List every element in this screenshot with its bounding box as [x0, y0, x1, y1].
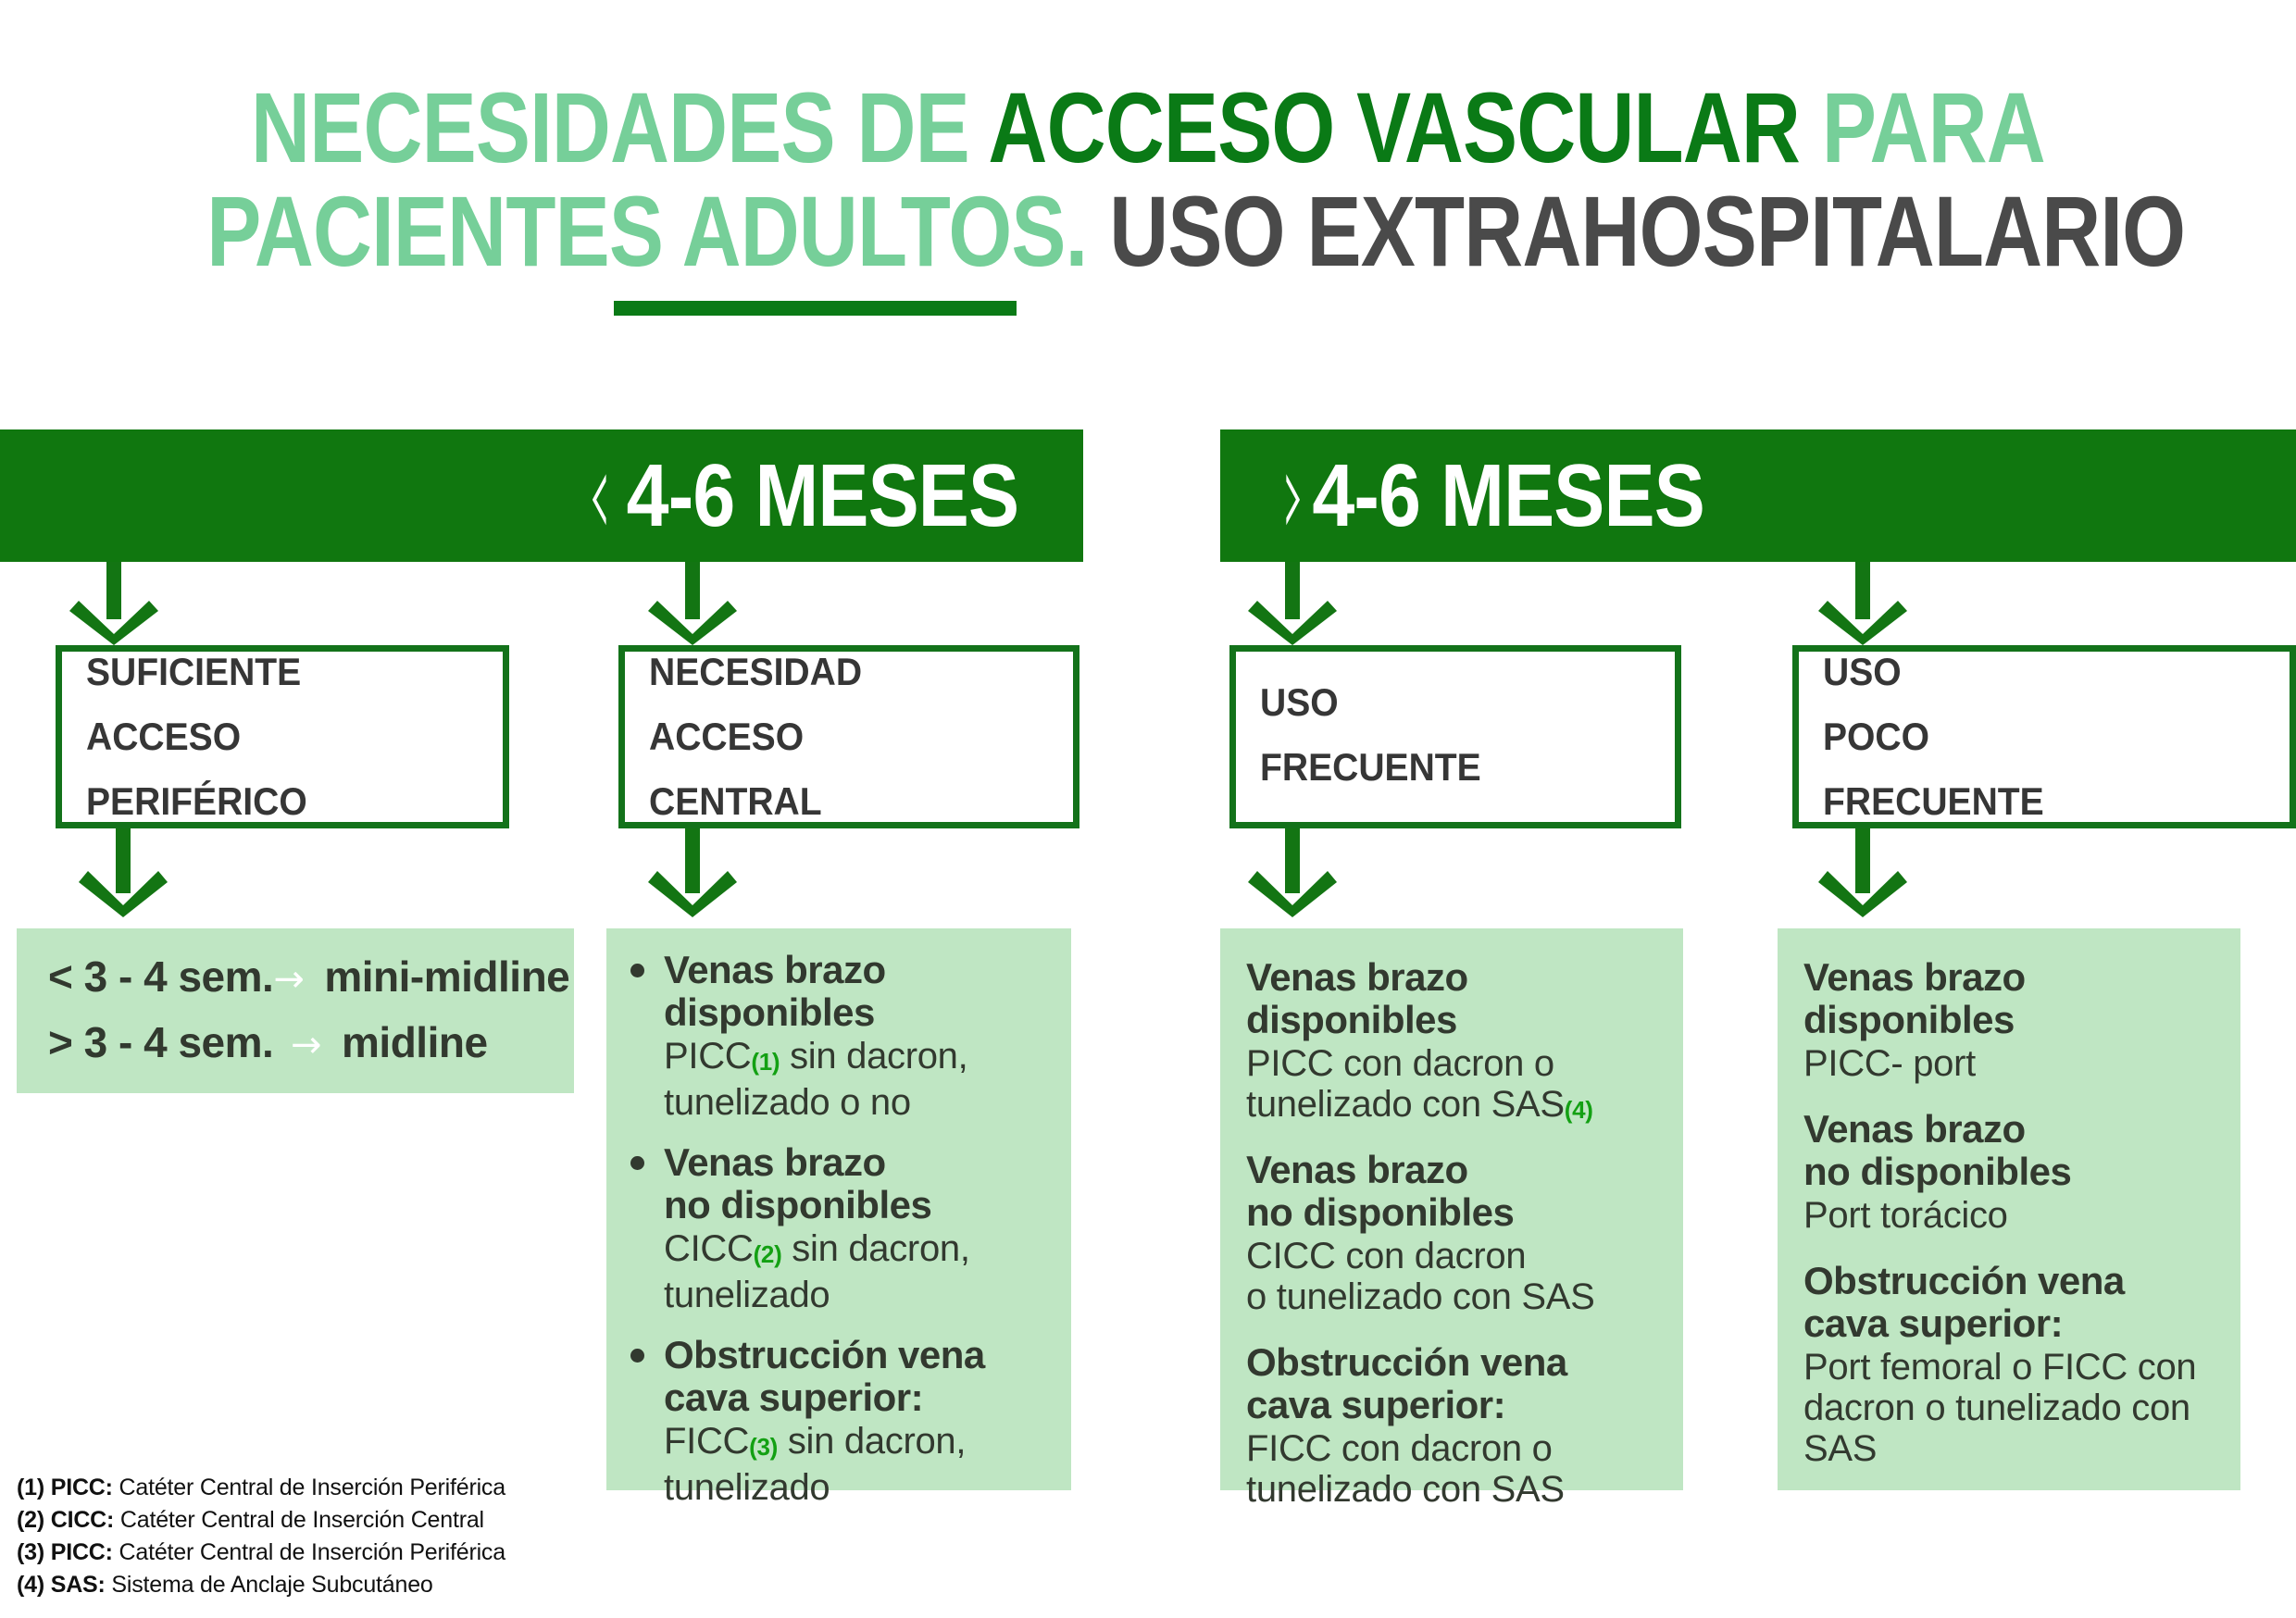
panel-item-heading: Venas brazodisponibles: [625, 949, 1053, 1034]
arrow-head-icon: [1248, 599, 1337, 645]
arrow-head-icon: [79, 869, 168, 917]
title-seg-uso-extrahospitalario: USO EXTRAHOSPITALARIO: [1109, 175, 2185, 287]
category-box-2-line-2: ACCESO: [649, 704, 1021, 769]
panel-item-detail: Port femoral o FICC condacron o tuneliza…: [1803, 1347, 2215, 1475]
detail-pre: FICC con dacron otunelizado con SAS: [1246, 1428, 1565, 1510]
right-arrow-icon: →: [291, 1014, 342, 1077]
detail-pre: CICC: [664, 1228, 754, 1269]
category-box-2-line-3: CENTRAL: [649, 769, 1021, 834]
panel-item-heading: Venas brazono disponibles: [625, 1141, 1053, 1226]
connector-arrow-2: [648, 562, 737, 645]
panel-item-heading: Obstrucción venacava superior:: [1246, 1341, 1657, 1426]
arrow-head-icon: [1248, 869, 1337, 917]
panel-item-heading: Venas brazono disponibles: [1803, 1108, 2215, 1193]
title-line-1: NECESIDADES DE ACCESO VASCULAR PARA: [206, 76, 2090, 180]
footnote-text: Catéter Central de Inserción Periférica: [113, 1475, 505, 1500]
title-seg-necesidades: NECESIDADES DE: [251, 71, 988, 183]
footnote-ref: (2): [754, 1240, 782, 1268]
category-box-1-line-3: PERIFÉRICO: [86, 769, 451, 834]
title-seg-acceso-vascular: ACCESO VASCULAR: [988, 71, 1821, 183]
category-box-suficiente-acceso-periferico[interactable]: SUFICIENTE ACCESO PERIFÉRICO: [56, 645, 509, 828]
footnote-number: (3): [17, 1539, 44, 1565]
panel-item-heading: Obstrucción venacava superior:: [625, 1334, 1053, 1419]
panel-item-heading: Obstrucción venacava superior:: [1803, 1260, 2215, 1345]
connector-arrow-6: [648, 828, 737, 917]
category-box-4-line-1: USO: [1823, 640, 2235, 704]
arrow-head-icon: [1818, 869, 1907, 917]
category-box-necesidad-acceso-central[interactable]: NECESIDAD ACCESO CENTRAL: [618, 645, 1079, 828]
content-panel-acceso-periferico: < 3 - 4 sem. → mini-midline > 3 - 4 sem.…: [17, 928, 574, 1093]
panel-item-detail: FICC con dacron otunelizado con SAS: [1246, 1428, 1657, 1515]
category-box-uso-poco-frecuente[interactable]: USO POCO FRECUENTE: [1792, 645, 2296, 828]
panel-item-detail: Port torácico: [1803, 1195, 2215, 1241]
header-left-text: 4-6 MESES: [626, 452, 1018, 541]
category-box-uso-frecuente[interactable]: USO FRECUENTE: [1229, 645, 1681, 828]
detail-pre: PICC: [664, 1036, 751, 1077]
footnote-number: (1): [17, 1475, 44, 1500]
rule-row: < 3 - 4 sem. → mini-midline: [48, 945, 543, 1011]
adultos-underline: [614, 301, 1017, 316]
detail-pre: Port torácico: [1803, 1195, 2008, 1236]
category-box-3-line-2: FRECUENTE: [1260, 735, 1623, 800]
content-panel-uso-frecuente: Venas brazodisponibles PICC con dacron o…: [1220, 928, 1683, 1490]
rule-result: midline: [342, 1011, 488, 1074]
header-label-right: ›4-6 MESES: [1279, 452, 1704, 541]
category-box-4-line-3: FRECUENTE: [1823, 769, 2235, 834]
footnote-ref: (1): [751, 1048, 780, 1076]
footnote-text: Catéter Central de Inserción Periférica: [113, 1539, 505, 1565]
detail-pre: CICC con dacrono tunelizado con SAS: [1246, 1236, 1594, 1317]
panel-item-detail: FICC(3) sin dacron,tunelizado: [625, 1421, 1053, 1508]
header-label-left: ‹4-6 MESES: [585, 452, 1018, 541]
connector-arrow-4: [1818, 562, 1907, 645]
footnote-item: (4) SAS: Sistema de Anclaje Subcutáneo: [17, 1569, 665, 1601]
connector-arrow-8: [1818, 828, 1907, 917]
header-bar-greater-than-4-6-meses: ›4-6 MESES: [1220, 429, 2296, 562]
panel-item-detail: PICC(1) sin dacron,tunelizado o no: [625, 1036, 1053, 1123]
category-box-4-line-2: POCO: [1823, 704, 2235, 769]
footnote-ref: (3): [749, 1433, 778, 1461]
rule-condition: > 3 - 4 sem.: [48, 1011, 291, 1074]
arrow-head-icon: [1818, 599, 1907, 645]
footnotes-list: (1) PICC: Catéter Central de Inserción P…: [17, 1472, 665, 1601]
footnote-item: (2) CICC: Catéter Central de Inserción C…: [17, 1504, 665, 1537]
panel-item-detail: CICC con dacrono tunelizado con SAS: [1246, 1236, 1657, 1323]
connector-arrow-5: [79, 828, 168, 917]
detail-pre: FICC: [664, 1421, 749, 1462]
detail-pre: PICC con dacron otunelizado con SAS: [1246, 1043, 1565, 1125]
footnote-abbr: CICC:: [51, 1507, 114, 1533]
panel-item-detail: PICC- port: [1803, 1043, 2215, 1089]
title-line-2: PACIENTES ADULTOS. USO EXTRAHOSPITALARIO: [206, 180, 2090, 283]
footnote-ref: (4): [1565, 1096, 1593, 1124]
footnote-item: (1) PICC: Catéter Central de Inserción P…: [17, 1472, 665, 1504]
panel-item-detail: PICC con dacron otunelizado con SAS(4): [1246, 1043, 1657, 1130]
connector-arrow-1: [69, 562, 158, 645]
category-box-2-line-1: NECESIDAD: [649, 640, 1021, 704]
footnote-item: (3) PICC: Catéter Central de Inserción P…: [17, 1537, 665, 1569]
detail-pre: Port femoral o FICC condacron o tuneliza…: [1803, 1347, 2196, 1469]
header-right-text: 4-6 MESES: [1312, 452, 1704, 541]
rule-condition: < 3 - 4 sem.: [48, 945, 273, 1008]
title-seg-pacientes-adultos: PACIENTES ADULTOS.: [206, 175, 1109, 287]
detail-pre: PICC- port: [1803, 1043, 1976, 1084]
title-seg-para: PARA: [1822, 71, 2045, 183]
chevron-right-icon: ›: [1281, 429, 1304, 558]
connector-arrow-7: [1248, 828, 1337, 917]
rule-result: mini-midline: [324, 945, 569, 1008]
footnote-abbr: SAS:: [51, 1572, 106, 1598]
panel-item-detail: CICC(2) sin dacron,tunelizado: [625, 1228, 1053, 1315]
footnote-abbr: PICC:: [51, 1539, 113, 1565]
rule-row: > 3 - 4 sem. → midline: [48, 1011, 543, 1077]
footnote-text: Catéter Central de Inserción Central: [114, 1507, 484, 1533]
panel-item-heading: Venas brazodisponibles: [1246, 956, 1657, 1041]
category-box-3-line-1: USO: [1260, 670, 1623, 735]
page-title: NECESIDADES DE ACCESO VASCULAR PARA PACI…: [0, 76, 2296, 283]
panel-item-heading: Venas brazodisponibles: [1803, 956, 2215, 1041]
header-bar-less-than-4-6-meses: ‹4-6 MESES: [0, 429, 1083, 562]
category-box-1-line-1: SUFICIENTE: [86, 640, 451, 704]
panel-item-heading: Venas brazono disponibles: [1246, 1149, 1657, 1234]
arrow-head-icon: [648, 599, 737, 645]
footnote-abbr: PICC:: [51, 1475, 113, 1500]
connector-arrow-3: [1248, 562, 1337, 645]
content-panel-uso-poco-frecuente: Venas brazodisponibles PICC- port Venas …: [1778, 928, 2240, 1490]
footnote-number: (2): [17, 1507, 44, 1533]
chevron-left-icon: ‹: [588, 429, 611, 558]
right-arrow-icon: →: [273, 948, 324, 1011]
content-panel-acceso-central: Venas brazodisponibles PICC(1) sin dacro…: [606, 928, 1071, 1490]
footnote-text: Sistema de Anclaje Subcutáneo: [106, 1572, 433, 1598]
footnote-number: (4): [17, 1572, 44, 1598]
arrow-head-icon: [648, 869, 737, 917]
category-box-1-line-2: ACCESO: [86, 704, 451, 769]
arrow-head-icon: [69, 599, 158, 645]
